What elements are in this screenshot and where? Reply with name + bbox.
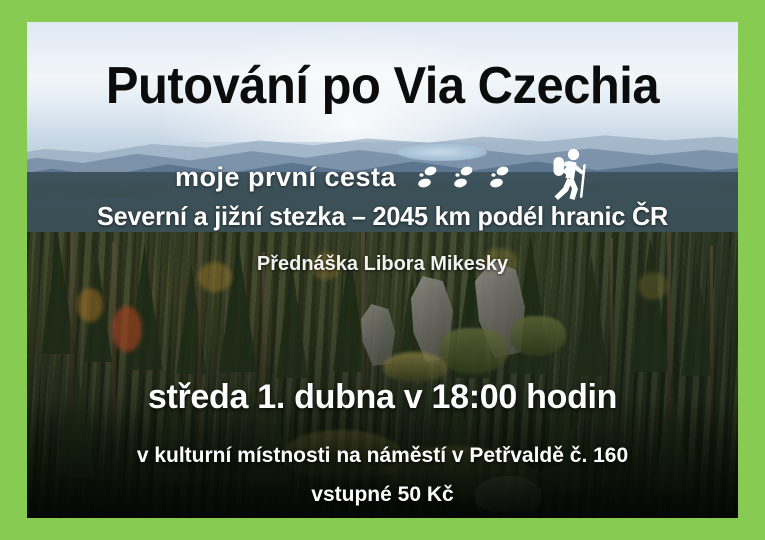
rock-moss xyxy=(439,328,509,374)
subtitle-row: moje první cesta xyxy=(27,148,738,207)
page-title: Putování po Via Czechia xyxy=(48,60,716,112)
route-line: Severní a jižní stezka – 2045 km podél h… xyxy=(38,203,728,229)
poster: Putování po Via Czechia moje první cesta xyxy=(0,0,765,540)
autumn-foliage xyxy=(77,288,103,322)
datetime-line: středa 1. dubna v 18:00 hodin xyxy=(27,380,738,414)
background-photo: Putování po Via Czechia moje první cesta xyxy=(27,22,738,518)
footprints-icon xyxy=(416,165,510,191)
speaker-line: Přednáška Libora Mikesky xyxy=(27,254,738,274)
venue-line: v kulturní místnosti na náměstí v Petřva… xyxy=(27,445,738,466)
poster-subtitle: moje první cesta xyxy=(175,162,396,193)
hiker-icon xyxy=(548,148,590,207)
price-line: vstupné 50 Kč xyxy=(27,484,738,505)
